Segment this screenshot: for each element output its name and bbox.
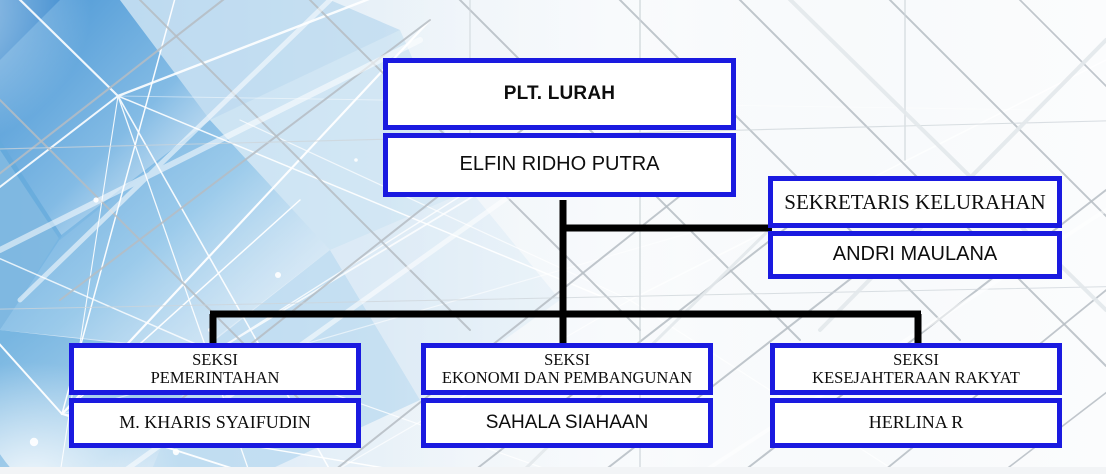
node-pemerintahan-name: M. KHARIS SYAIFUDIN xyxy=(69,398,361,448)
node-kesra-position: SEKSI KESEJAHTERAAN RAKYAT xyxy=(770,343,1062,395)
node-ekbang-position: SEKSI EKONOMI DAN PEMBANGUNAN xyxy=(421,343,713,395)
node-ekbang-position-line2: EKONOMI DAN PEMBANGUNAN xyxy=(442,369,692,387)
bottom-strip xyxy=(0,467,1106,474)
node-sekretaris-position: SEKRETARIS KELURAHAN xyxy=(768,176,1062,228)
node-plt-lurah-name: ELFIN RIDHO PUTRA xyxy=(383,133,736,197)
node-pemerintahan-position-line1: SEKSI xyxy=(151,351,280,369)
node-pemerintahan-position-line2: PEMERINTAHAN xyxy=(151,369,280,387)
node-kesra-name: HERLINA R xyxy=(770,398,1062,448)
node-sekretaris-name: ANDRI MAULANA xyxy=(768,231,1062,279)
node-pemerintahan-position: SEKSI PEMERINTAHAN xyxy=(69,343,361,395)
node-plt-lurah[interactable]: PLT. LURAH ELFIN RIDHO PUTRA xyxy=(383,58,736,197)
node-plt-lurah-position: PLT. LURAH xyxy=(383,58,736,130)
node-sekretaris-kelurahan[interactable]: SEKRETARIS KELURAHAN ANDRI MAULANA xyxy=(768,176,1062,279)
node-kesra-position-line2: KESEJAHTERAAN RAKYAT xyxy=(812,369,1020,387)
node-kesra-position-line1: SEKSI xyxy=(812,351,1020,369)
node-seksi-ekonomi-pembangunan[interactable]: SEKSI EKONOMI DAN PEMBANGUNAN SAHALA SIA… xyxy=(421,343,713,448)
node-seksi-kesejahteraan-rakyat[interactable]: SEKSI KESEJAHTERAAN RAKYAT HERLINA R xyxy=(770,343,1062,448)
node-ekbang-name: SAHALA SIAHAAN xyxy=(421,398,713,448)
org-chart-slide: PLT. LURAH ELFIN RIDHO PUTRA SEKRETARIS … xyxy=(0,0,1106,474)
node-ekbang-position-line1: SEKSI xyxy=(442,351,692,369)
node-seksi-pemerintahan[interactable]: SEKSI PEMERINTAHAN M. KHARIS SYAIFUDIN xyxy=(69,343,361,448)
